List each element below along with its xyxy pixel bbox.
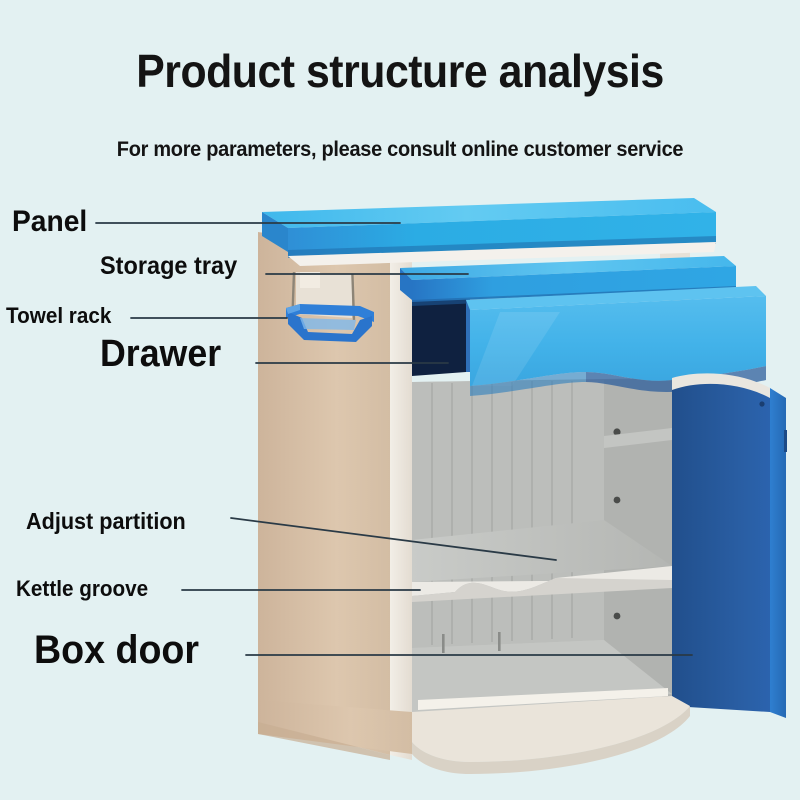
callout-label-storage-tray: Storage tray bbox=[100, 252, 237, 281]
callout-label-adjust-partition: Adjust partition bbox=[26, 508, 186, 535]
page-title: Product structure analysis bbox=[28, 44, 772, 98]
diagram-canvas: Product structure analysis For more para… bbox=[0, 0, 800, 800]
callout-label-kettle-groove: Kettle groove bbox=[16, 576, 148, 602]
callout-label-box-door: Box door bbox=[34, 628, 199, 673]
callout-label-towel-rack: Towel rack bbox=[6, 303, 111, 329]
leader-line-adjust-partition bbox=[231, 518, 556, 560]
leader-lines bbox=[0, 0, 800, 800]
page-subtitle: For more parameters, please consult onli… bbox=[20, 138, 780, 162]
callout-label-drawer: Drawer bbox=[100, 333, 221, 376]
callout-label-panel: Panel bbox=[12, 205, 87, 239]
